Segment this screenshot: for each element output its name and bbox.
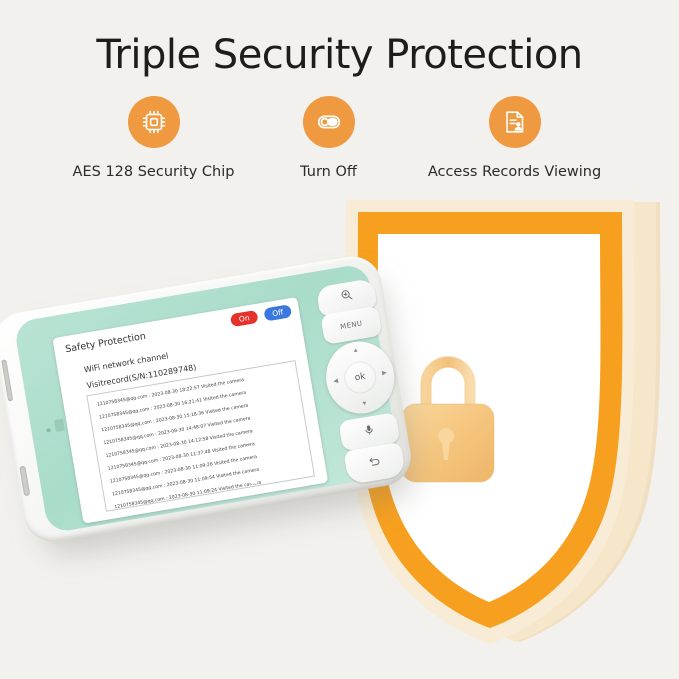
feature-list: AES 128 Security Chip Turn Off Access Re [0,96,679,180]
toggle-off-icon [303,96,355,148]
feature-item-aes-chip: AES 128 Security Chip [70,96,238,180]
feature-label: AES 128 Security Chip [73,164,235,180]
document-person-icon [489,96,541,148]
feature-item-access-records: Access Records Viewing [420,96,610,180]
ok-button[interactable]: ok [342,359,379,396]
toggle-button-group: On Off [230,304,292,327]
device-port-slot [1,359,13,401]
toggle-off-button[interactable]: Off [263,304,292,321]
menu-button-label: MENU [340,319,363,331]
feature-label: Access Records Viewing [428,164,601,180]
return-arrow-icon [366,453,383,473]
chevron-right-icon[interactable]: ▶ [382,370,388,377]
feature-label: Turn Off [300,164,357,180]
magnifier-plus-icon [339,288,355,308]
chevron-up-icon[interactable]: ▲ [352,347,359,354]
dpad[interactable]: ▲ ▼ ◀ ▶ ok [321,336,400,418]
speaker-grill [54,419,65,432]
feature-item-turn-off: Turn Off [274,96,384,180]
page-title: Triple Security Protection [0,32,679,78]
device-usb-port [19,466,30,497]
chevron-left-icon[interactable]: ◀ [333,378,339,385]
chip-icon [128,96,180,148]
toggle-on-button[interactable]: On [230,310,259,327]
chevron-down-icon[interactable]: ▼ [361,401,368,408]
device-screen: Safety Protection On Off WiFi network ch… [52,297,328,524]
microphone-icon [362,422,377,442]
screen-title: Safety Protection [65,331,147,355]
status-led [46,428,51,433]
